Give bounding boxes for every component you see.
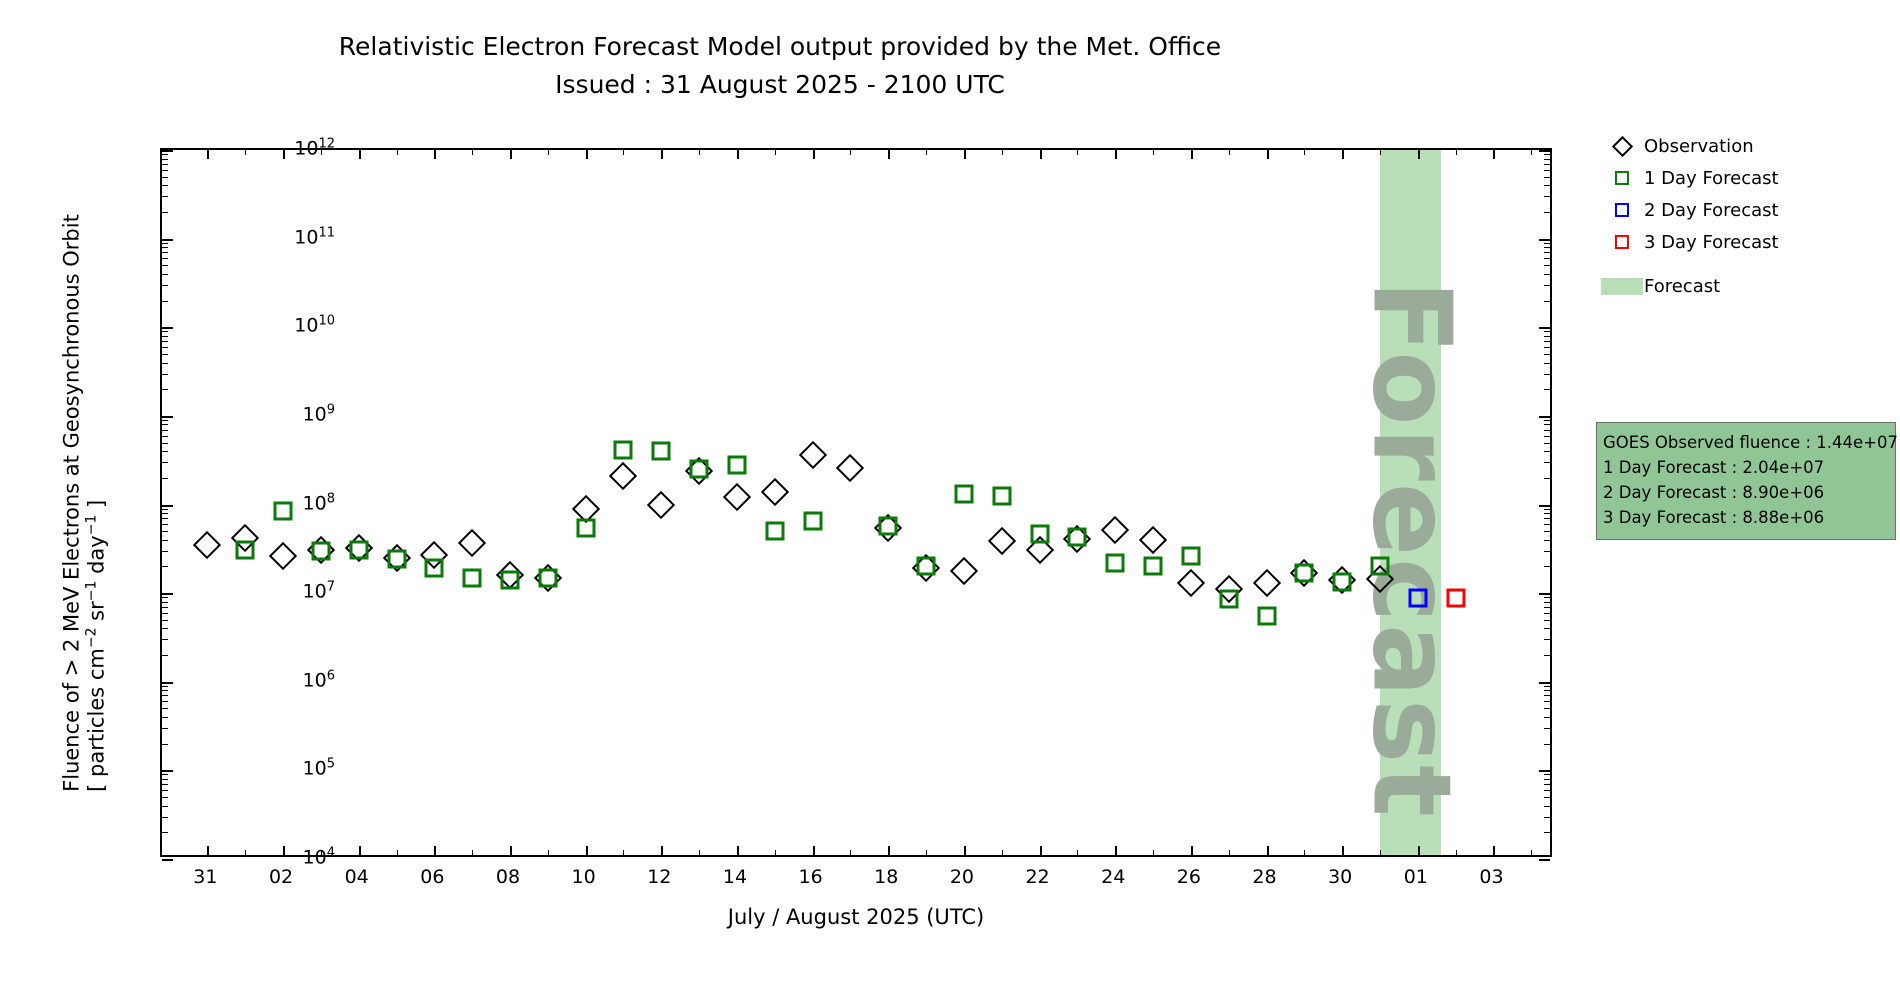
x-tick-minor <box>775 850 776 855</box>
forecast-marker <box>1106 553 1125 572</box>
forecast-marker <box>1333 572 1352 591</box>
y-tick-minor <box>162 790 168 791</box>
y-tick-minor <box>1544 806 1550 807</box>
y-tick-minor <box>1544 443 1550 444</box>
y-tick-minor <box>1544 243 1550 244</box>
y-tick-minor <box>1544 628 1550 629</box>
y-tick-label: 109 <box>303 402 335 425</box>
forecast-marker <box>992 486 1011 505</box>
y-tick-minor <box>1544 336 1550 337</box>
y-tick-label: 107 <box>303 579 335 602</box>
y-tick-label: 1011 <box>294 225 335 248</box>
y-tick-minor <box>162 285 168 286</box>
x-tick <box>1493 150 1495 159</box>
y-tick-minor <box>1544 518 1550 519</box>
x-tick <box>586 846 588 855</box>
y-tick-minor <box>162 252 168 253</box>
y-tick-label: 108 <box>303 491 335 514</box>
forecast-marker <box>538 568 557 587</box>
x-tick <box>1267 846 1269 855</box>
observation-marker <box>950 556 978 584</box>
x-tick <box>1342 846 1344 855</box>
y-tick-minor <box>1544 566 1550 567</box>
y-tick-minor <box>1544 177 1550 178</box>
y-tick-minor <box>1544 154 1550 155</box>
forecast-marker <box>1257 607 1276 626</box>
forecast-marker <box>1030 525 1049 544</box>
x-tick <box>964 150 966 159</box>
y-tick-minor <box>1544 797 1550 798</box>
y-tick-minor <box>1544 252 1550 253</box>
y-tick-minor <box>162 341 168 342</box>
y-tick-minor <box>1544 701 1550 702</box>
y-tick-minor <box>162 164 168 165</box>
observation-marker <box>1177 569 1205 597</box>
x-tick <box>510 150 512 159</box>
forecast-marker <box>501 571 520 590</box>
forecast-marker <box>274 502 293 521</box>
y-tick-minor <box>162 462 168 463</box>
x-tick-label: 06 <box>420 866 444 888</box>
x-tick <box>1040 150 1042 159</box>
x-tick-minor <box>548 850 549 855</box>
x-tick <box>813 846 815 855</box>
x-tick-minor <box>245 850 246 855</box>
y-tick-minor <box>162 607 168 608</box>
observation-marker <box>1139 526 1167 554</box>
forecast-marker <box>690 460 709 479</box>
y-tick-minor <box>1544 170 1550 171</box>
observation-marker <box>761 477 789 505</box>
y-tick-minor <box>1544 620 1550 621</box>
x-tick-minor <box>1229 150 1230 155</box>
x-tick <box>1342 150 1344 159</box>
observation-marker <box>1252 569 1280 597</box>
y-tick-minor <box>1544 774 1550 775</box>
x-axis-title: July / August 2025 (UTC) <box>160 905 1552 929</box>
y-tick-minor <box>1544 551 1550 552</box>
x-tick-minor <box>1077 150 1078 155</box>
y-tick-minor <box>162 832 168 833</box>
y-tick <box>1539 682 1550 684</box>
y-tick-minor <box>1544 708 1550 709</box>
y-tick <box>162 416 173 418</box>
observation-marker <box>798 441 826 469</box>
x-tick <box>1191 150 1193 159</box>
y-tick-minor <box>1544 331 1550 332</box>
y-tick-minor <box>162 613 168 614</box>
y-tick-label: 1012 <box>294 136 335 159</box>
diamond-icon <box>1600 139 1644 154</box>
x-tick-minor <box>1304 150 1305 155</box>
x-tick-label: 31 <box>193 866 217 888</box>
info-line: GOES Observed fluence : 1.44e+07 <box>1603 430 1889 455</box>
x-tick-label: 08 <box>496 866 520 888</box>
x-tick-label: 12 <box>647 866 671 888</box>
x-tick <box>661 846 663 855</box>
x-tick <box>359 150 361 159</box>
x-tick-minor <box>1380 850 1381 855</box>
y-tick <box>162 859 173 861</box>
y-tick-minor <box>1544 341 1550 342</box>
x-tick <box>510 846 512 855</box>
forecast-marker <box>1408 588 1427 607</box>
x-tick-minor <box>1531 150 1532 155</box>
y-tick-minor <box>162 784 168 785</box>
y-tick <box>162 770 173 772</box>
x-tick-minor <box>245 150 246 155</box>
y-tick-minor <box>1544 462 1550 463</box>
x-tick-minor <box>548 150 549 155</box>
y-tick-minor <box>1544 790 1550 791</box>
x-tick <box>207 150 209 159</box>
x-tick-minor <box>1380 150 1381 155</box>
y-tick <box>1539 239 1550 241</box>
y-tick-minor <box>1544 607 1550 608</box>
y-tick <box>162 327 173 329</box>
forecast-marker <box>614 441 633 460</box>
y-tick-minor <box>162 336 168 337</box>
y-tick-minor <box>162 154 168 155</box>
x-tick-label: 22 <box>1025 866 1049 888</box>
y-tick-minor <box>162 424 168 425</box>
y-tick-minor <box>1544 212 1550 213</box>
title-line-2: Issued : 31 August 2025 - 2100 UTC <box>0 66 1560 104</box>
x-tick-minor <box>397 850 398 855</box>
forecast-marker <box>1219 590 1238 609</box>
y-tick-minor <box>162 620 168 621</box>
y-tick-minor <box>1544 784 1550 785</box>
x-tick <box>1191 846 1193 855</box>
x-tick <box>1115 846 1117 855</box>
y-tick-minor <box>1544 185 1550 186</box>
y-tick-minor <box>1544 430 1550 431</box>
y-axis-units: [ particles cm−2 sr−1 day−1 ] <box>85 499 109 791</box>
forecast-marker <box>463 568 482 587</box>
y-tick-minor <box>1544 164 1550 165</box>
y-tick-minor <box>1544 451 1550 452</box>
y-tick-minor <box>162 420 168 421</box>
y-tick-minor <box>1544 613 1550 614</box>
y-tick-minor <box>1544 301 1550 302</box>
y-axis-title-text: Fluence of > 2 MeV Electrons at Geosynch… <box>60 214 84 792</box>
y-tick-minor <box>1544 424 1550 425</box>
y-tick-minor <box>1544 655 1550 656</box>
y-tick-minor <box>162 566 168 567</box>
x-tick-minor <box>623 150 624 155</box>
observation-marker <box>723 483 751 511</box>
y-tick-minor <box>162 389 168 390</box>
y-tick-minor <box>1544 274 1550 275</box>
x-tick <box>1493 846 1495 855</box>
forecast-marker <box>765 522 784 541</box>
x-tick <box>737 846 739 855</box>
y-tick-minor <box>162 690 168 691</box>
y-tick <box>162 239 173 241</box>
x-tick-label: 14 <box>723 866 747 888</box>
x-tick-label: 20 <box>950 866 974 888</box>
info-line: 2 Day Forecast : 8.90e+06 <box>1603 480 1889 505</box>
x-tick-minor <box>850 850 851 855</box>
y-tick <box>162 150 173 152</box>
y-tick-label: 106 <box>303 668 335 691</box>
y-tick-label: 105 <box>303 757 335 780</box>
y-tick-minor <box>1544 744 1550 745</box>
x-tick-minor <box>397 150 398 155</box>
square-icon <box>1600 235 1644 249</box>
y-tick-minor <box>162 509 168 510</box>
y-tick-minor <box>162 774 168 775</box>
y-tick-minor <box>162 451 168 452</box>
forecast-marker <box>652 442 671 461</box>
x-tick-minor <box>472 150 473 155</box>
observation-marker <box>458 529 486 557</box>
legend: Observation1 Day Forecast2 Day Forecast3… <box>1600 130 1890 302</box>
y-tick <box>1539 150 1550 152</box>
chart-title: Relativistic Electron Forecast Model out… <box>0 28 1560 104</box>
y-tick-minor <box>162 806 168 807</box>
y-tick-minor <box>1544 509 1550 510</box>
y-tick-minor <box>1544 354 1550 355</box>
y-tick-minor <box>1544 690 1550 691</box>
observation-marker <box>269 542 297 570</box>
x-tick <box>283 150 285 159</box>
y-tick-minor <box>162 274 168 275</box>
x-tick-label: 16 <box>799 866 823 888</box>
forecast-marker <box>236 540 255 559</box>
y-tick-minor <box>162 518 168 519</box>
y-tick-minor <box>1544 728 1550 729</box>
x-tick-minor <box>775 150 776 155</box>
y-tick-minor <box>162 797 168 798</box>
x-tick <box>813 150 815 159</box>
y-tick-minor <box>162 478 168 479</box>
y-tick <box>1539 859 1550 861</box>
y-tick-label: 104 <box>303 845 335 868</box>
forecast-watermark: Forecast <box>1356 280 1464 819</box>
x-tick-minor <box>926 150 927 155</box>
y-tick-minor <box>162 430 168 431</box>
y-tick-minor <box>162 695 168 696</box>
y-tick-minor <box>162 602 168 603</box>
y-tick-minor <box>162 540 168 541</box>
legend-item-label: 3 Day Forecast <box>1644 232 1779 253</box>
y-tick <box>162 593 173 595</box>
y-tick-minor <box>1544 436 1550 437</box>
chart-page: Relativistic Electron Forecast Model out… <box>0 0 1900 1000</box>
y-tick-minor <box>1544 597 1550 598</box>
observation-marker <box>1101 516 1129 544</box>
y-tick <box>1539 593 1550 595</box>
x-tick-minor <box>1153 150 1154 155</box>
x-tick-label: 03 <box>1479 866 1503 888</box>
forecast-marker <box>1181 547 1200 566</box>
y-tick-minor <box>1544 478 1550 479</box>
y-tick-minor <box>162 744 168 745</box>
y-tick-minor <box>1544 686 1550 687</box>
observation-marker <box>609 462 637 490</box>
forecast-marker <box>349 540 368 559</box>
x-tick-minor <box>699 850 700 855</box>
legend-item[interactable]: 2 Day Forecast <box>1600 194 1890 226</box>
y-tick-minor <box>162 354 168 355</box>
y-tick-minor <box>162 301 168 302</box>
forecast-marker <box>576 519 595 538</box>
x-tick <box>964 846 966 855</box>
y-tick-minor <box>162 708 168 709</box>
y-tick-minor <box>162 524 168 525</box>
x-tick <box>434 846 436 855</box>
forecast-marker <box>917 557 936 576</box>
x-tick <box>1115 150 1117 159</box>
x-tick-minor <box>1002 850 1003 855</box>
y-axis-title: Fluence of > 2 MeV Electrons at Geosynch… <box>52 148 116 857</box>
x-tick <box>737 150 739 159</box>
y-tick-minor <box>162 531 168 532</box>
y-tick-minor <box>1544 524 1550 525</box>
y-tick-minor <box>162 728 168 729</box>
y-tick <box>1539 770 1550 772</box>
y-tick-minor <box>1544 374 1550 375</box>
x-tick-label: 24 <box>1101 866 1125 888</box>
y-tick-minor <box>162 331 168 332</box>
x-tick <box>434 150 436 159</box>
y-tick-minor <box>162 177 168 178</box>
observation-marker <box>647 490 675 518</box>
forecast-marker <box>1446 588 1465 607</box>
y-tick-minor <box>162 170 168 171</box>
x-tick <box>207 846 209 855</box>
y-tick-minor <box>162 247 168 248</box>
x-tick-minor <box>1304 850 1305 855</box>
y-tick-minor <box>1544 420 1550 421</box>
x-tick-minor <box>1456 850 1457 855</box>
x-tick-label: 01 <box>1404 866 1428 888</box>
plot-area: Forecast <box>160 148 1552 857</box>
y-tick-minor <box>1544 363 1550 364</box>
y-tick-minor <box>162 374 168 375</box>
y-tick <box>1539 416 1550 418</box>
title-line-1: Relativistic Electron Forecast Model out… <box>0 28 1560 66</box>
legend-item[interactable]: 1 Day Forecast <box>1600 162 1890 194</box>
x-tick-minor <box>699 150 700 155</box>
legend-item[interactable]: Forecast <box>1600 270 1890 302</box>
y-tick-minor <box>162 243 168 244</box>
x-tick-label: 26 <box>1177 866 1201 888</box>
x-tick-minor <box>1077 850 1078 855</box>
legend-item-label: 2 Day Forecast <box>1644 200 1779 221</box>
y-tick-minor <box>1544 832 1550 833</box>
y-tick-minor <box>162 701 168 702</box>
x-tick-minor <box>1002 150 1003 155</box>
x-tick <box>661 150 663 159</box>
x-tick-label: 30 <box>1328 866 1352 888</box>
y-tick-minor <box>162 779 168 780</box>
y-tick-minor <box>1544 513 1550 514</box>
y-tick-minor <box>162 655 168 656</box>
y-tick-label: 1010 <box>294 314 335 337</box>
legend-item[interactable]: 3 Day Forecast <box>1600 226 1890 258</box>
x-tick-minor <box>1456 150 1457 155</box>
forecast-marker <box>1144 557 1163 576</box>
y-tick-minor <box>162 817 168 818</box>
x-tick <box>888 150 890 159</box>
forecast-marker <box>1068 527 1087 546</box>
y-tick-minor <box>1544 247 1550 248</box>
x-tick <box>586 150 588 159</box>
y-tick-minor <box>162 159 168 160</box>
x-tick-label: 10 <box>572 866 596 888</box>
y-tick-minor <box>1544 717 1550 718</box>
y-tick-minor <box>162 717 168 718</box>
x-tick-minor <box>472 850 473 855</box>
y-tick-minor <box>1544 347 1550 348</box>
x-tick-minor <box>1153 850 1154 855</box>
forecast-marker <box>1371 556 1390 575</box>
x-tick-label: 28 <box>1252 866 1276 888</box>
y-tick-minor <box>1544 389 1550 390</box>
x-tick-minor <box>623 850 624 855</box>
y-tick-minor <box>1544 602 1550 603</box>
y-tick-minor <box>1544 695 1550 696</box>
x-tick-minor <box>926 850 927 855</box>
x-tick-label: 02 <box>269 866 293 888</box>
y-tick-minor <box>162 347 168 348</box>
x-tick-label: 04 <box>345 866 369 888</box>
x-tick <box>1040 846 1042 855</box>
info-line: 3 Day Forecast : 8.88e+06 <box>1603 505 1889 530</box>
y-tick-minor <box>162 363 168 364</box>
x-tick-minor <box>1531 850 1532 855</box>
y-tick-minor <box>1544 540 1550 541</box>
forecast-marker <box>425 559 444 578</box>
x-tick <box>1418 150 1420 159</box>
y-tick-minor <box>162 265 168 266</box>
y-tick <box>1539 327 1550 329</box>
y-tick-minor <box>1544 639 1550 640</box>
y-tick-minor <box>162 639 168 640</box>
x-tick <box>283 846 285 855</box>
y-tick-minor <box>1544 779 1550 780</box>
band-swatch-icon <box>1600 278 1644 295</box>
x-tick <box>1418 846 1420 855</box>
x-tick-minor <box>850 150 851 155</box>
legend-item-label: 1 Day Forecast <box>1644 168 1779 189</box>
forecast-marker <box>879 517 898 536</box>
square-icon <box>1600 171 1644 185</box>
info-line: 1 Day Forecast : 2.04e+07 <box>1603 455 1889 480</box>
y-tick <box>162 505 173 507</box>
legend-item-label: Forecast <box>1644 276 1720 297</box>
observation-marker <box>988 527 1016 555</box>
square-icon <box>1600 203 1644 217</box>
y-tick-minor <box>162 513 168 514</box>
y-tick-minor <box>162 196 168 197</box>
y-tick <box>1539 505 1550 507</box>
observation-marker <box>193 531 221 559</box>
y-tick-minor <box>162 258 168 259</box>
y-tick-minor <box>162 185 168 186</box>
y-tick-minor <box>1544 258 1550 259</box>
forecast-marker <box>1295 563 1314 582</box>
forecast-marker <box>954 485 973 504</box>
forecast-marker <box>387 550 406 569</box>
y-tick-minor <box>162 686 168 687</box>
observation-marker <box>836 454 864 482</box>
x-tick-minor <box>1229 850 1230 855</box>
y-tick-minor <box>1544 531 1550 532</box>
legend-item[interactable]: Observation <box>1600 130 1890 162</box>
